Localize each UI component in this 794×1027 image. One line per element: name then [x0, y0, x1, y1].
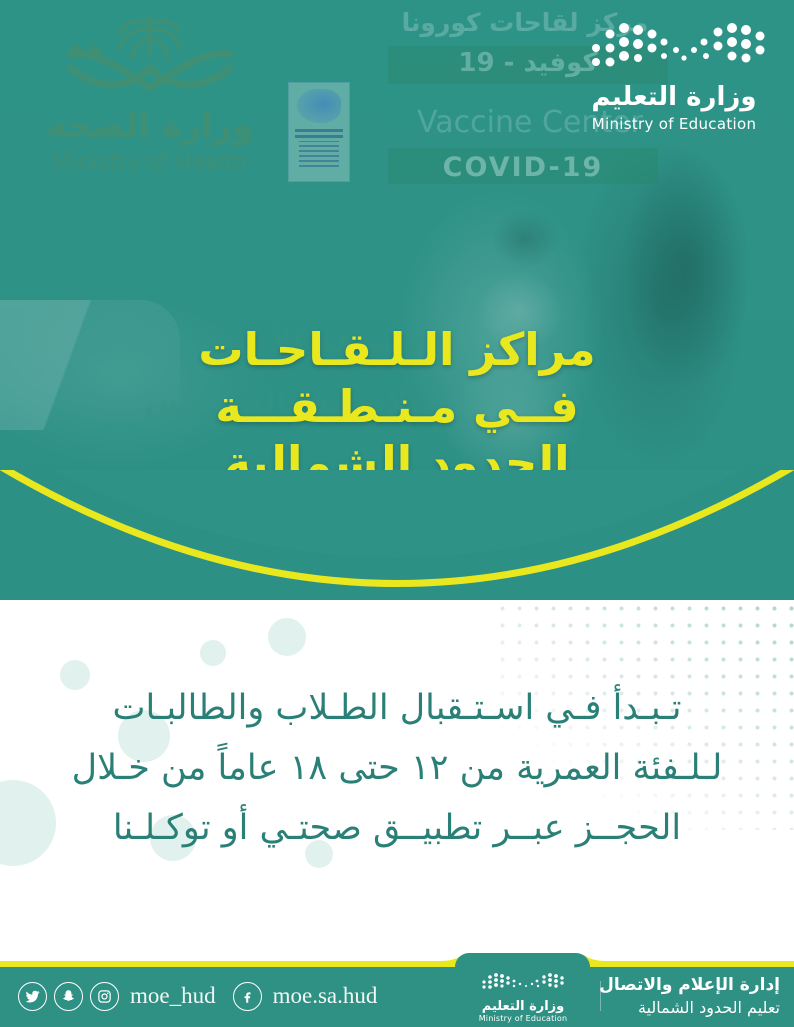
decorative-circle: [268, 618, 306, 656]
footer-moe-arabic: وزارة التعليم: [462, 999, 584, 1014]
moe-arabic-name: وزارة التعليم: [574, 82, 774, 112]
headline-line-1: مراكز الـلـقـاحـات: [0, 322, 794, 379]
palm-tree-and-swords-icon: [30, 10, 270, 105]
facebook-icon[interactable]: [233, 982, 262, 1011]
moe-dot-pattern-icon: [476, 971, 570, 993]
snapchat-icon[interactable]: [54, 982, 83, 1011]
body-line-3: الحجــز عبــر تطبيــق صحتـي أو توكـلـنا: [0, 798, 794, 858]
ministry-of-health-logo: وزارة الصحة Ministry of Health: [30, 10, 270, 185]
twitter-icon[interactable]: [18, 982, 47, 1011]
footer-department-block: إدارة الإعلام والاتصال تعليم الحدود الشم…: [599, 975, 780, 1017]
badge-detail-block: [299, 141, 339, 167]
office-name: تعليم الحدود الشمالية: [599, 998, 780, 1017]
footer-moe-logo: وزارة التعليم Ministry of Education: [462, 971, 584, 1023]
announcement-text: تـبـدأ فـي اسـتـقبال الطـلاب والطالبـات …: [0, 678, 794, 859]
moh-english-name: Ministry of Health: [30, 150, 270, 174]
poster-headline: مراكز الـلـقـاحـات فــي مـنـطـقـــة الحد…: [0, 322, 794, 492]
body-section: تـبـدأ فـي اسـتـقبال الطـلاب والطالبـات …: [0, 600, 794, 960]
decorative-circle: [200, 640, 226, 666]
blue-accreditation-badge: [288, 82, 350, 182]
department-name: إدارة الإعلام والاتصال: [599, 975, 780, 995]
social-links[interactable]: moe_hud moe.sa.hud: [18, 979, 387, 1013]
footer-moe-english: Ministry of Education: [462, 1014, 584, 1023]
badge-text-line: [295, 135, 343, 138]
moe-english-name: Ministry of Education: [574, 115, 774, 133]
body-line-2: لـلـفئة العمرية من ١٢ حتى ١٨ عاماً من خـ…: [0, 738, 794, 798]
poster-canvas: مسافة الأ الإصابة بالفيروس مركز لقاحات ك…: [0, 0, 794, 1027]
headline-line-2: فــي مـنـطـقـــة: [0, 379, 794, 436]
footer: moe_hud moe.sa.hud: [0, 955, 794, 1027]
headline-line-3: الحدود الشمالية: [0, 435, 794, 492]
moh-arabic-name: وزارة الصحة: [30, 106, 270, 146]
ministry-of-education-logo: وزارة التعليم Ministry of Education: [574, 18, 774, 136]
body-line-1: تـبـدأ فـي اسـتـقبال الطـلاب والطالبـات: [0, 678, 794, 738]
facebook-handle[interactable]: moe.sa.hud: [273, 983, 378, 1009]
badge-text-line: [295, 129, 343, 132]
badge-emblem-icon: [297, 89, 341, 123]
primary-handle[interactable]: moe_hud: [130, 983, 216, 1009]
hero-section: مسافة الأ الإصابة بالفيروس مركز لقاحات ك…: [0, 0, 794, 600]
moe-dot-pattern-icon: [574, 18, 774, 80]
instagram-icon[interactable]: [90, 982, 119, 1011]
